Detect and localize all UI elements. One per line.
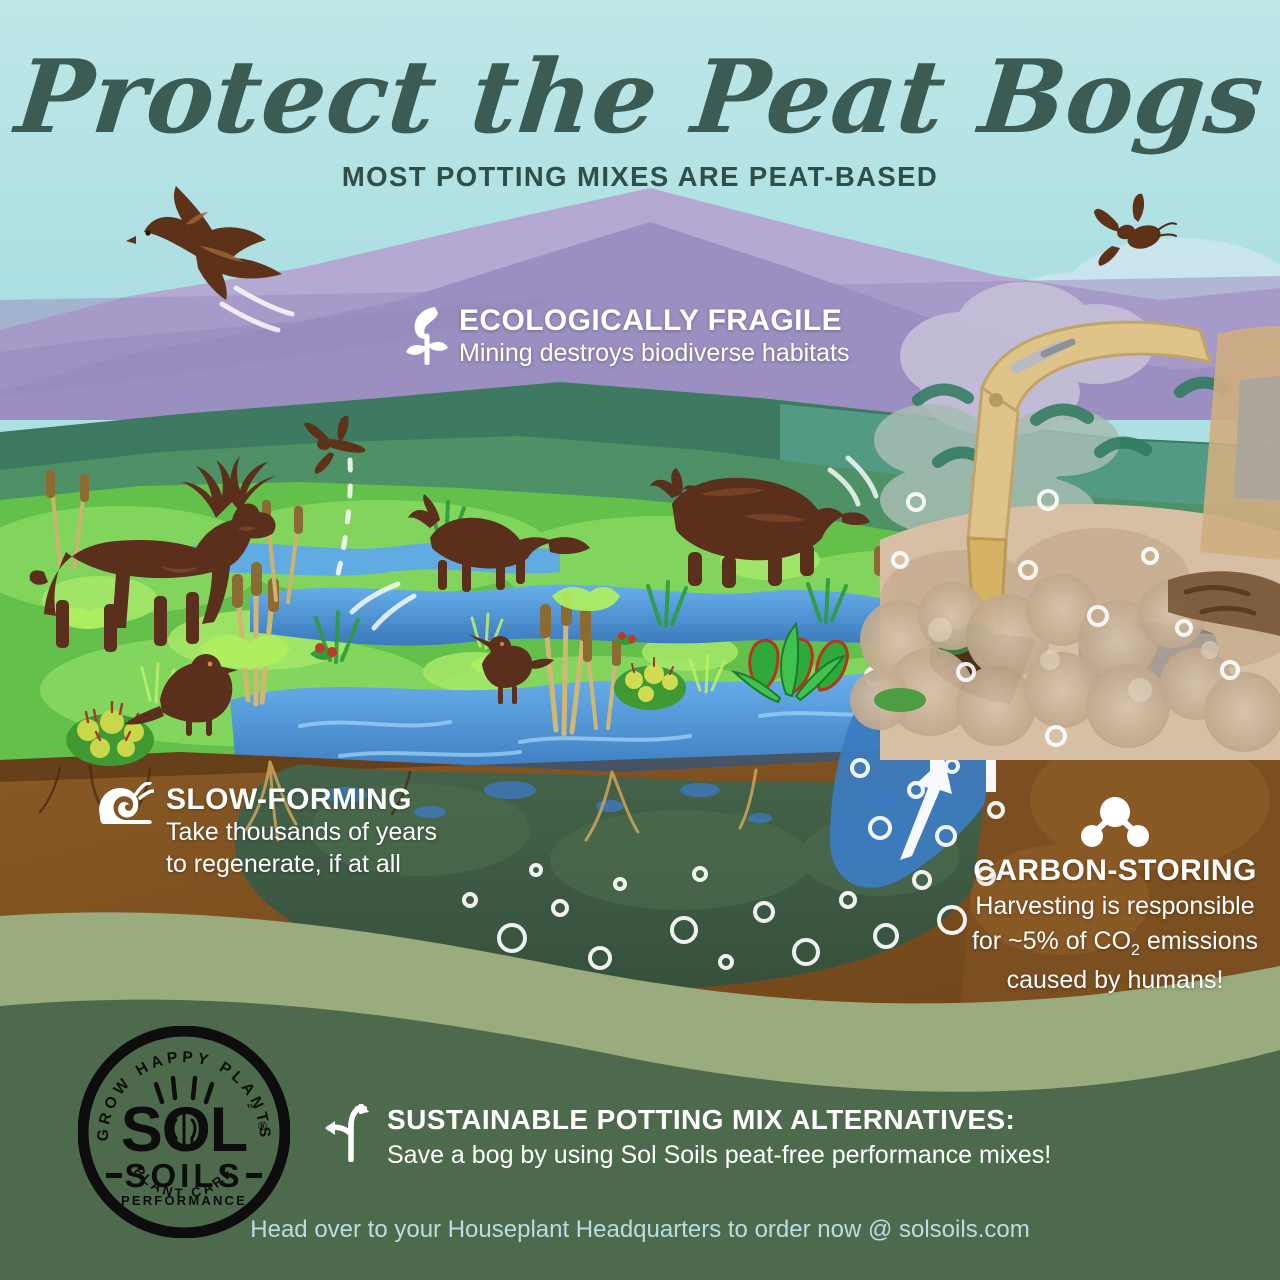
callout-body-line1: Take thousands of years [166, 816, 437, 848]
callout-body-line1: Harvesting is responsible [965, 890, 1265, 922]
logo-trademark-mark: ™ [246, 1103, 257, 1115]
forked-sprout-arrow-icon [325, 1104, 371, 1162]
snail-icon [96, 782, 154, 826]
cta-heading: SUSTAINABLE POTTING MIX ALTERNATIVES: [387, 1104, 1051, 1136]
cta-body: Save a bog by using Sol Soils peat-free … [387, 1141, 1051, 1170]
callout-heading: SLOW-FORMING [166, 784, 437, 816]
callout-slow-forming: SLOW-FORMING Take thousands of years to … [96, 782, 437, 880]
callout-ecologically-fragile: ECOLOGICALLY FRAGILE Mining destroys bio… [405, 303, 849, 369]
callout-body-line2: for ~5% of CO2 emissions [965, 925, 1265, 961]
title-block: Protect the Peat Bogs MOST POTTING MIXES… [0, 46, 1280, 193]
callout-heading: CARBON-STORING [965, 855, 1265, 887]
page-subtitle: MOST POTTING MIXES ARE PEAT-BASED [0, 161, 1280, 193]
page-title: Protect the Peat Bogs [0, 46, 1280, 147]
cta-block: SUSTAINABLE POTTING MIX ALTERNATIVES: Sa… [325, 1104, 1051, 1170]
callout-body-line3: caused by humans! [965, 964, 1265, 996]
callout-body: Mining destroys biodiverse habitats [459, 337, 849, 369]
logo-registered-mark: ® [258, 1119, 267, 1133]
sprout-leaf-icon [405, 303, 449, 365]
callout-body-line2: to regenerate, if at all [166, 848, 437, 880]
callout-carbon-storing: CARBON-STORING Harvesting is responsible… [965, 795, 1265, 996]
callout-heading: ECOLOGICALLY FRAGILE [459, 305, 849, 337]
sol-soils-logo[interactable]: GROW HAPPY PLANTS SOL ® ™ SOILS PERFORMA… [78, 1026, 290, 1238]
molecule-icon [1077, 795, 1153, 851]
infographic-poster: Protect the Peat Bogs MOST POTTING MIXES… [0, 0, 1280, 1280]
